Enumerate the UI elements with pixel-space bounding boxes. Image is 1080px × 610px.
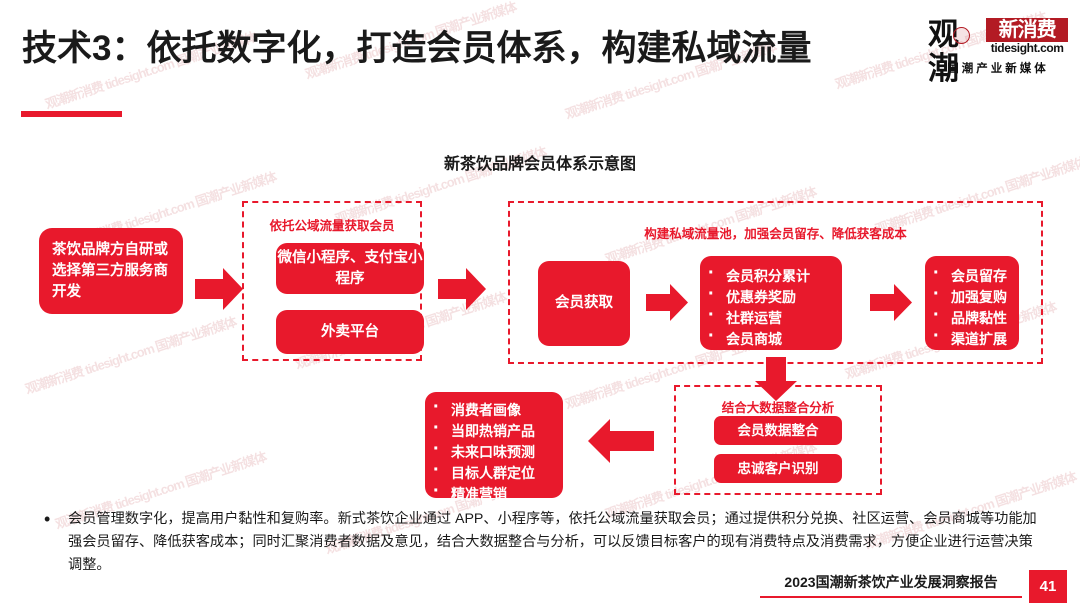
footnote-text: 会员管理数字化，提高用户黏性和复购率。新式茶饮企业通过 APP、小程序等，依托公… bbox=[68, 511, 1037, 573]
arrow-right-icon bbox=[870, 284, 912, 321]
logo-badge: 新消费 bbox=[986, 18, 1068, 42]
list-item: 会员商城 bbox=[700, 329, 842, 350]
logo-brand-name: 观潮 bbox=[928, 18, 984, 86]
bigdata-box-data-integration: 会员数据整合 bbox=[714, 416, 842, 445]
list-item: 目标人群定位 bbox=[425, 463, 563, 484]
private-box-member-acquisition: 会员获取 bbox=[538, 261, 630, 346]
arrow-right-icon bbox=[195, 268, 243, 310]
brand-logo: 观潮 新消费 tidesight.com 国潮产业新媒体 bbox=[928, 18, 1068, 80]
logo-secondary: 新消费 tidesight.com bbox=[986, 18, 1068, 55]
public-box-mini-programs: 微信小程序、支付宝小程序 bbox=[276, 243, 424, 294]
logo-main-row: 观潮 新消费 tidesight.com bbox=[928, 18, 1068, 58]
page-title: 技术3：依托数字化，打造会员体系，构建私域流量 bbox=[22, 20, 811, 71]
insights-list: 消费者画像 当即热销产品 未来口味预测 目标人群定位 精准营销 bbox=[425, 400, 563, 505]
list-item: 渠道扩展 bbox=[925, 329, 1019, 350]
footer-rule bbox=[760, 596, 1022, 598]
insights-box: 消费者画像 当即热销产品 未来口味预测 目标人群定位 精准营销 bbox=[425, 392, 563, 498]
list-item: 社群运营 bbox=[700, 308, 842, 329]
group-private-label: 构建私域流量池，加强会员留存、降低获客成本 bbox=[510, 223, 1041, 242]
retention-list: 会员留存 加强复购 品牌黏性 渠道扩展 bbox=[925, 266, 1019, 350]
title-accent-rule bbox=[21, 111, 122, 117]
diagram-title: 新茶饮品牌会员体系示意图 bbox=[0, 150, 1080, 174]
private-box-engagement: 会员积分累计 优惠券奖励 社群运营 会员商城 bbox=[700, 256, 842, 350]
page-number-badge: 41 bbox=[1029, 570, 1067, 603]
arrow-right-icon bbox=[438, 268, 486, 310]
logo-brand-text: 观潮 bbox=[928, 17, 957, 86]
arrow-left-icon bbox=[588, 419, 654, 463]
start-box: 茶饮品牌方自研或选择第三方服务商开发 bbox=[39, 228, 183, 314]
footer-report-title: 2023国潮新茶饮产业发展洞察报告 bbox=[760, 572, 1022, 592]
list-item: 当即热销产品 bbox=[425, 421, 563, 442]
bigdata-box-loyal-customer: 忠诚客户识别 bbox=[714, 454, 842, 483]
list-item: 精准营销 bbox=[425, 484, 563, 505]
list-item: 优惠券奖励 bbox=[700, 287, 842, 308]
group-bigdata-label: 结合大数据整合分析 bbox=[676, 397, 880, 416]
footnote: • 会员管理数字化，提高用户黏性和复购率。新式茶饮企业通过 APP、小程序等，依… bbox=[68, 508, 1043, 577]
public-box-delivery-platform: 外卖平台 bbox=[276, 310, 424, 354]
list-item: 会员积分累计 bbox=[700, 266, 842, 287]
watermark-tile: 观潮新消费 tidesight.com 国潮产业新媒体 bbox=[22, 311, 238, 397]
list-item: 未来口味预测 bbox=[425, 442, 563, 463]
private-box-retention: 会员留存 加强复购 品牌黏性 渠道扩展 bbox=[925, 256, 1019, 350]
footnote-bullet: • bbox=[44, 508, 50, 531]
engagement-list: 会员积分累计 优惠券奖励 社群运营 会员商城 bbox=[700, 266, 842, 350]
arrow-right-icon bbox=[646, 284, 688, 321]
circle-seal-icon bbox=[953, 27, 970, 44]
logo-domain: tidesight.com bbox=[986, 42, 1068, 55]
group-public-label: 依托公域流量获取会员 bbox=[244, 215, 420, 234]
list-item: 消费者画像 bbox=[425, 400, 563, 421]
